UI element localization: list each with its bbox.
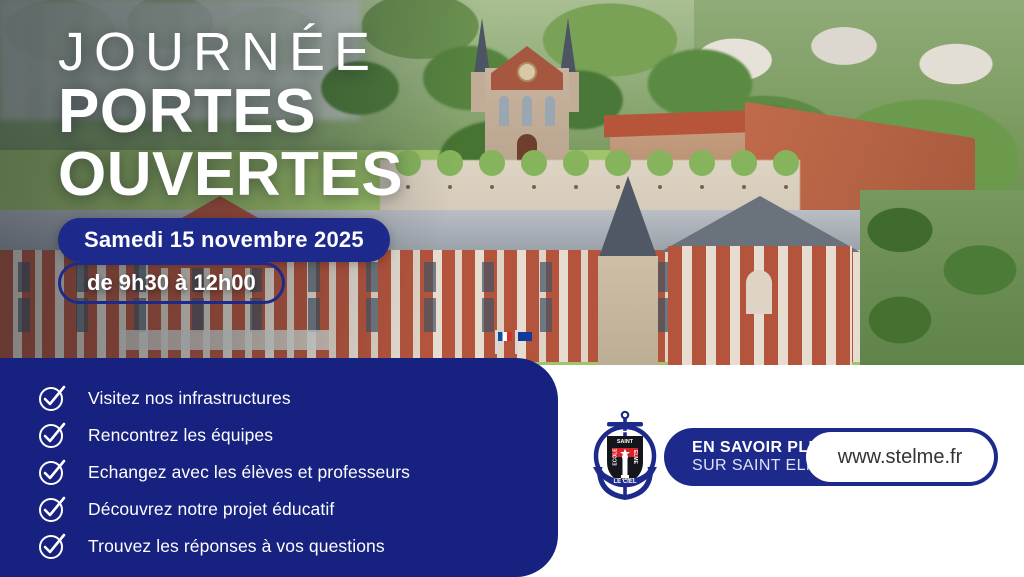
- crest-right-text: ELME: [632, 450, 638, 465]
- check-circle-icon: [40, 424, 64, 448]
- tower-shaft: [598, 256, 658, 365]
- check-circle-icon: [40, 461, 64, 485]
- tower-roof: [598, 176, 658, 260]
- chapel-pavilion: [660, 196, 860, 365]
- benefits-panel: Visitez nos infrastructures Rencontrez l…: [0, 358, 558, 577]
- event-time-badge: de 9h30 à 12h00: [58, 262, 285, 304]
- headline-line-1: JOURNÉE: [58, 24, 578, 80]
- crest-ribbon-text: LE CIEL: [613, 479, 636, 485]
- check-circle-icon: [40, 498, 64, 522]
- event-date-badge: Samedi 15 novembre 2025: [58, 218, 390, 262]
- list-item: Découvrez notre projet éducatif: [40, 491, 558, 528]
- pavilion-roof: [660, 196, 860, 252]
- list-item-label: Découvrez notre projet éducatif: [88, 499, 334, 520]
- headline-line-3: OUVERTES: [58, 143, 578, 206]
- crest-top-text: SAINT: [617, 439, 634, 445]
- open-day-poster: JOURNÉE PORTES OUVERTES Samedi 15 novemb…: [0, 0, 1024, 577]
- check-circle-icon: [40, 535, 64, 559]
- list-item-label: Echangez avec les élèves et professeurs: [88, 462, 410, 483]
- list-item: Rencontrez les équipes: [40, 417, 558, 454]
- website-url-pill[interactable]: www.stelme.fr: [806, 432, 994, 482]
- garden-hedge: [860, 190, 1024, 365]
- list-item: Visitez nos infrastructures: [40, 380, 558, 417]
- crest-left-text: ECOLE: [613, 448, 619, 466]
- saint-elme-crest-logo: SAINT ARCACHON ECOLE ELME LE CIEL: [585, 410, 665, 506]
- learn-more-button[interactable]: EN SAVOIR PLUS SUR SAINT ELME ❯ www.stel…: [664, 428, 998, 486]
- headline-line-2: PORTES: [58, 80, 578, 143]
- list-item-label: Trouvez les réponses à vos questions: [88, 536, 385, 557]
- page-title: JOURNÉE PORTES OUVERTES: [58, 24, 578, 207]
- statue-niche: [746, 270, 772, 314]
- list-item: Trouvez les réponses à vos questions: [40, 528, 558, 565]
- check-circle-icon: [40, 387, 64, 411]
- list-item-label: Rencontrez les équipes: [88, 425, 273, 446]
- list-item: Echangez avec les élèves et professeurs: [40, 454, 558, 491]
- list-item-label: Visitez nos infrastructures: [88, 388, 291, 409]
